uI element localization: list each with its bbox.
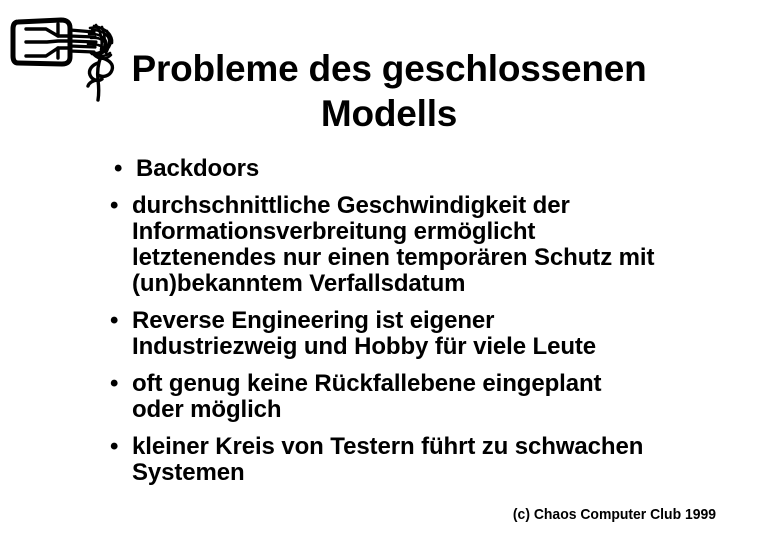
bullet-text: durchschnittliche Geschwindigkeit der In… xyxy=(132,193,730,297)
bullet-item-reverse-engineering: • Reverse Engineering ist eigener Indust… xyxy=(110,308,730,360)
bullet-item-rueckfallebene: • oft genug keine Rückfallebene eingepla… xyxy=(110,371,730,423)
slide-title-line-1: Probleme des geschlossenen xyxy=(130,46,648,91)
bullet-text: Reverse Engineering ist eigener Industri… xyxy=(132,308,730,360)
bullet-item-backdoors: • Backdoors xyxy=(114,156,730,182)
chaos-computer-club-logo xyxy=(6,8,118,106)
bullet-marker-icon: • xyxy=(110,193,132,219)
bullet-marker-icon: • xyxy=(110,308,132,334)
bullet-text: kleiner Kreis von Testern führt zu schwa… xyxy=(132,434,730,486)
bullet-item-tester: • kleiner Kreis von Testern führt zu sch… xyxy=(110,434,730,486)
bullet-list: • Backdoors • durchschnittliche Geschwin… xyxy=(110,156,730,497)
copyright-footer: (c) Chaos Computer Club 1999 xyxy=(50,506,716,523)
bullet-item-geschwindigkeit: • durchschnittliche Geschwindigkeit der … xyxy=(110,193,730,297)
bullet-marker-icon: • xyxy=(110,371,132,397)
ccc-logo-cord xyxy=(88,56,112,100)
presentation-slide: Probleme des geschlossenen Modells • Bac… xyxy=(0,0,779,539)
bullet-marker-icon: • xyxy=(114,156,136,182)
bullet-text: oft genug keine Rückfallebene eingeplant… xyxy=(132,371,730,423)
bullet-marker-icon: • xyxy=(110,434,132,460)
slide-title: Probleme des geschlossenen Modells xyxy=(130,46,648,136)
ccc-logo-icon xyxy=(6,8,118,106)
slide-title-line-2: Modells xyxy=(130,91,648,136)
bullet-text: Backdoors xyxy=(136,156,730,182)
